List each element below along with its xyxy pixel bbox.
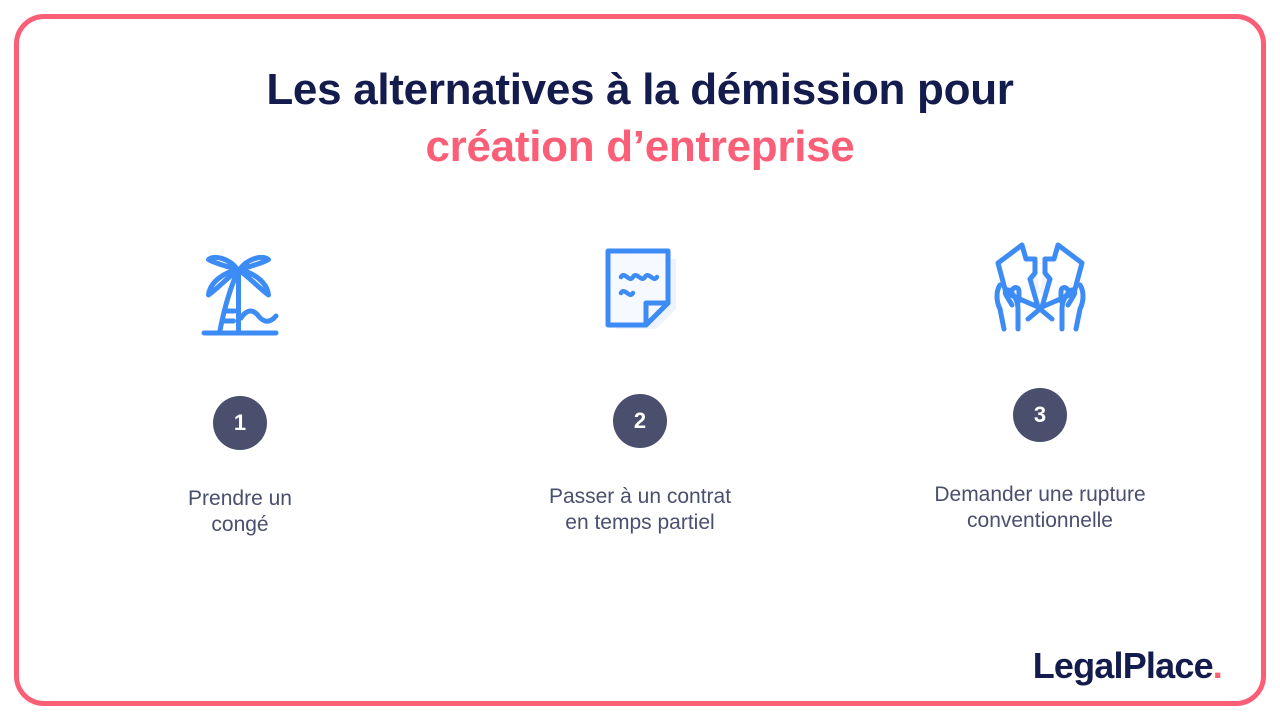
- step-number-badge: 1: [213, 396, 267, 450]
- step-column-3: 3 Demander une rupture conventionnelle: [860, 228, 1220, 535]
- page-title: Les alternatives à la démission pour cré…: [0, 64, 1280, 174]
- document-page-icon: [588, 230, 692, 348]
- logo-wordmark: LegalPlace: [1033, 645, 1213, 686]
- palm-tree-beach-icon: [188, 232, 292, 350]
- title-line-highlight: création d’entreprise: [0, 119, 1280, 174]
- infographic-canvas: Les alternatives à la démission pour cré…: [0, 0, 1280, 720]
- hands-tearing-contract-icon: [988, 228, 1092, 346]
- step-caption: Passer à un contrat en temps partiel: [549, 484, 731, 537]
- step-number-badge: 2: [613, 394, 667, 448]
- step-column-2: 2 Passer à un contrat en temps partiel: [460, 230, 820, 537]
- step-column-1: 1 Prendre un congé: [60, 232, 420, 539]
- title-line-primary: Les alternatives à la démission pour: [0, 64, 1280, 117]
- logo-dot: .: [1213, 645, 1222, 686]
- steps-row: 1 Prendre un congé: [60, 228, 1220, 539]
- infographic-content: Les alternatives à la démission pour cré…: [0, 0, 1280, 720]
- legalplace-logo: LegalPlace.: [1033, 648, 1222, 684]
- step-caption: Demander une rupture conventionnelle: [934, 482, 1145, 535]
- step-caption: Prendre un congé: [188, 486, 292, 539]
- step-number-badge: 3: [1013, 388, 1067, 442]
